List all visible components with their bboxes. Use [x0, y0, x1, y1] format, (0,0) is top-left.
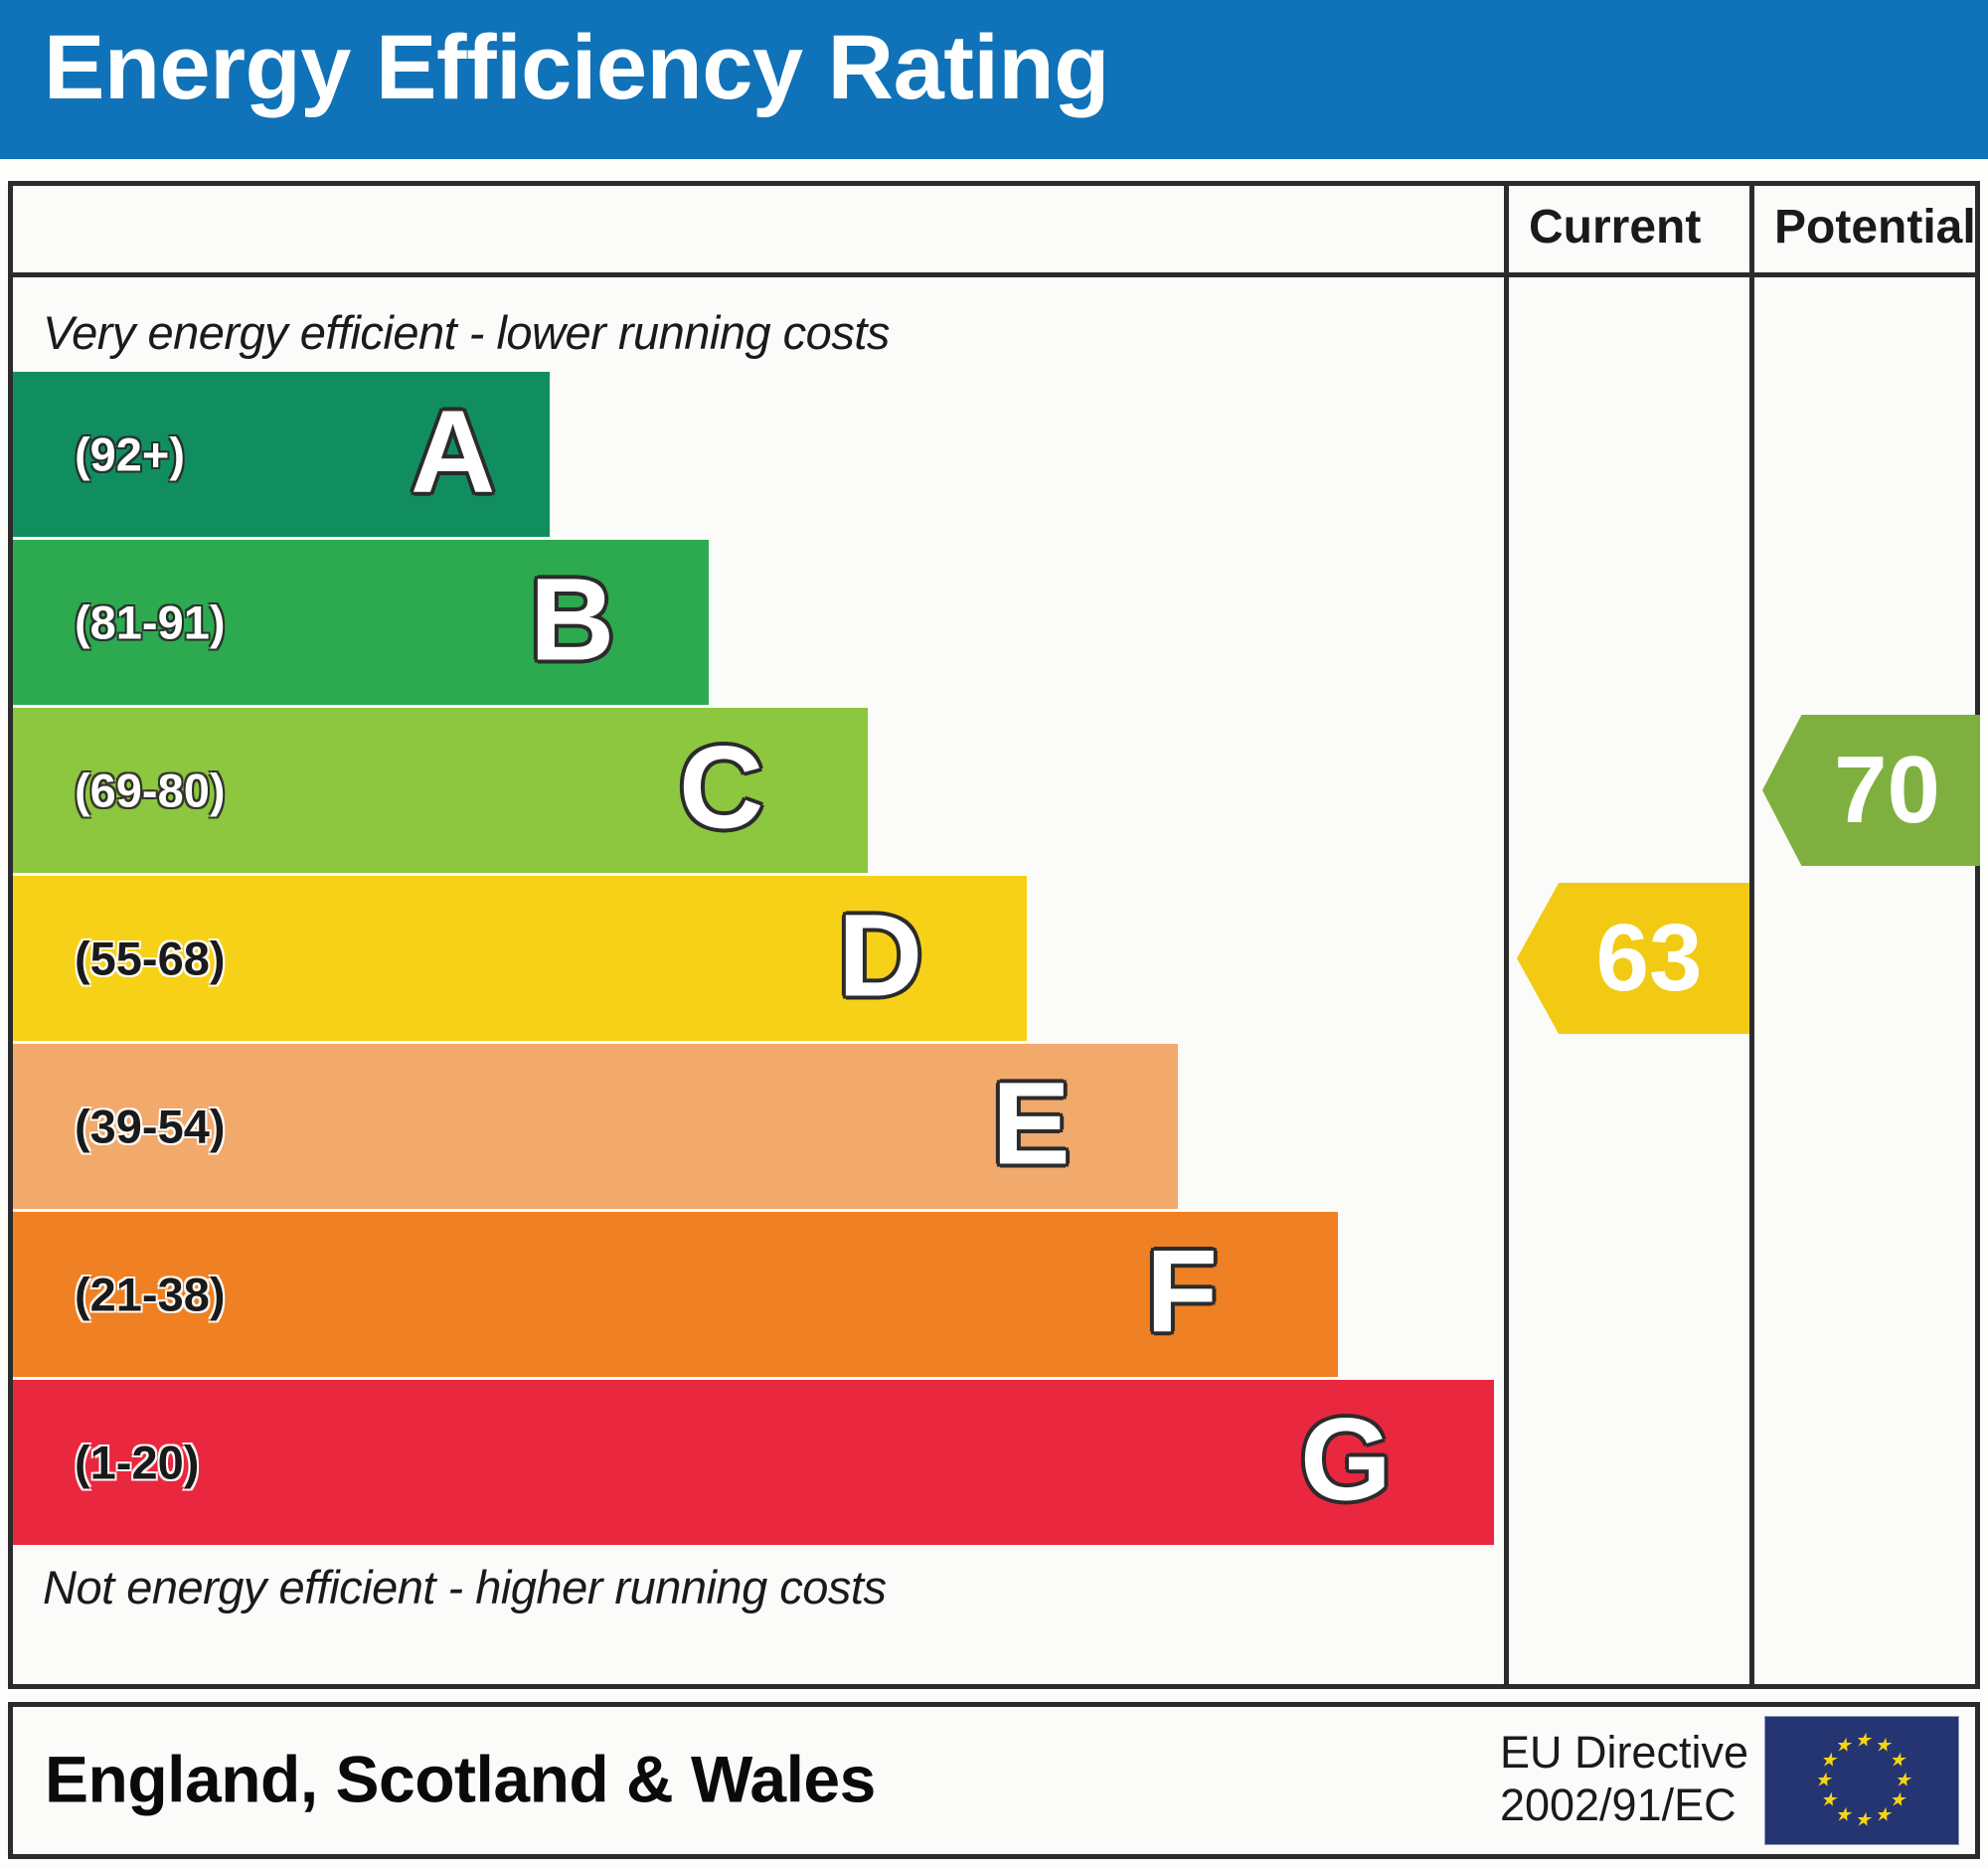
band-range-label-a: (92+) — [75, 427, 185, 482]
potential-rating-arrow: 70 — [1762, 715, 1980, 866]
table-header-row: Current Potential — [13, 186, 1975, 277]
band-range-label-b: (81-91) — [75, 595, 226, 650]
footer-directive-label: EU Directive 2002/91/EC — [1500, 1726, 1748, 1831]
band-letter-b: B — [530, 562, 614, 679]
chart-caption-bottom: Not energy efficient - higher running co… — [43, 1560, 886, 1614]
rating-chart: Very energy efficient - lower running co… — [13, 277, 1504, 1684]
rating-band-b: (81-91)B — [13, 540, 709, 705]
directive-line-1: EU Directive — [1500, 1726, 1748, 1779]
directive-line-2: 2002/91/EC — [1500, 1779, 1748, 1831]
band-range-label-d: (55-68) — [75, 932, 226, 986]
column-header-current: Current — [1529, 200, 1701, 255]
potential-rating-value: 70 — [1802, 743, 1940, 838]
band-letter-e: E — [992, 1066, 1071, 1183]
band-letter-d: D — [838, 898, 922, 1015]
current-rating-value: 63 — [1565, 911, 1703, 1006]
header-bar: Energy Efficiency Rating — [0, 0, 1988, 159]
rating-table: Current Potential Very energy efficient … — [8, 181, 1980, 1689]
rating-band-d: (55-68)D — [13, 876, 1027, 1041]
footer-bar: England, Scotland & Wales EU Directive 2… — [8, 1702, 1980, 1859]
rating-band-f: (21-38)F — [13, 1212, 1338, 1377]
band-letter-c: C — [679, 730, 763, 847]
band-range-label-c: (69-80) — [75, 764, 226, 818]
rating-band-a: (92+)A — [13, 372, 550, 537]
band-letter-f: F — [1146, 1234, 1218, 1351]
rating-band-e: (39-54)E — [13, 1044, 1178, 1209]
rating-bands: (92+)A(81-91)B(69-80)C(55-68)D(39-54)E(2… — [13, 372, 1504, 1550]
band-range-label-f: (21-38) — [75, 1268, 226, 1322]
rating-band-c: (69-80)C — [13, 708, 868, 873]
chart-caption-top: Very energy efficient - lower running co… — [43, 305, 890, 360]
current-rating-arrow: 63 — [1517, 883, 1749, 1034]
potential-rating-column: 70 — [1754, 277, 1980, 1684]
band-letter-g: G — [1300, 1402, 1392, 1519]
band-range-label-e: (39-54) — [75, 1100, 226, 1154]
band-letter-a: A — [411, 394, 495, 511]
rating-band-g: (1-20)G — [13, 1380, 1494, 1545]
eu-flag-icon — [1764, 1716, 1959, 1845]
band-range-label-g: (1-20) — [75, 1436, 199, 1490]
footer-region-label: England, Scotland & Wales — [45, 1741, 876, 1816]
current-rating-column: 63 — [1509, 277, 1749, 1684]
column-header-potential: Potential — [1774, 200, 1976, 255]
page-title: Energy Efficiency Rating — [44, 22, 1109, 113]
energy-efficiency-certificate: Energy Efficiency Rating Current Potenti… — [0, 0, 1988, 1867]
